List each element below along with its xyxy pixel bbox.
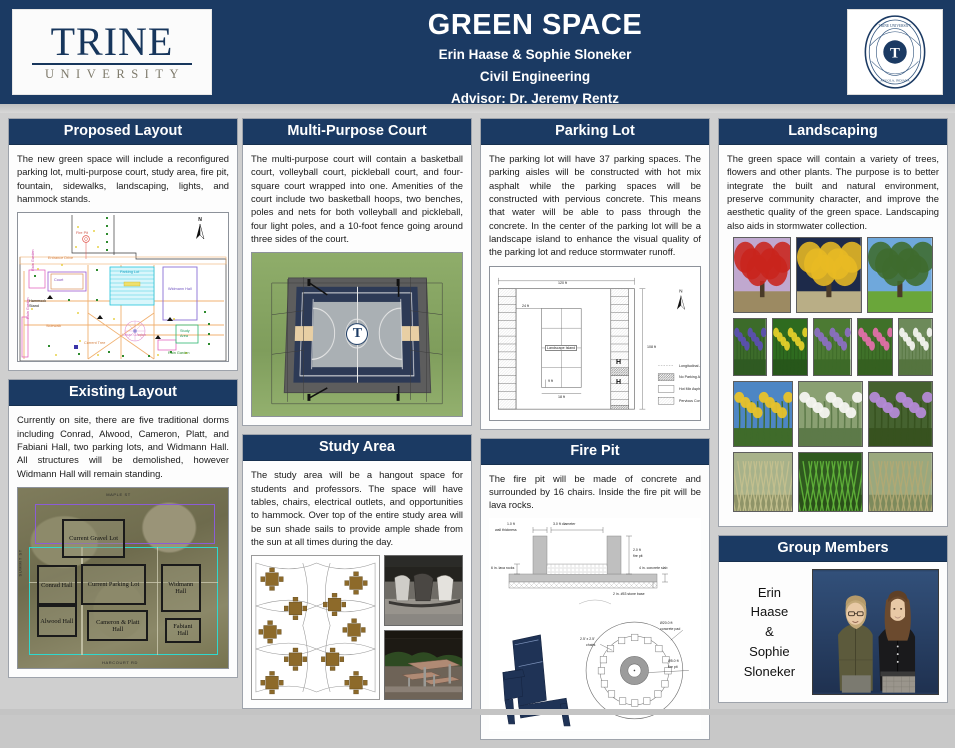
fire-pit-stone-base: 2 in. #53 stone base xyxy=(613,592,645,596)
university-seal: T TRINE UNIVERSITY ANGOLA, INDIANA xyxy=(847,9,943,95)
aerial-road-top: MAPLE ST xyxy=(106,492,131,497)
fire-pit-pad-line1: Ø20.0 ft xyxy=(660,621,672,625)
green-oak-tree xyxy=(867,237,933,313)
group-members-photo xyxy=(812,569,939,695)
panel-title-multi-purpose-court: Multi-Purpose Court xyxy=(243,119,471,145)
fire-pit-chairs-line1: 2.5' x 2.5' xyxy=(580,637,595,641)
plant-photo-row xyxy=(733,318,933,376)
author-names: Erin Haase & Sophie Sloneker xyxy=(220,45,850,64)
study-area-photos xyxy=(384,555,463,700)
fire-pit-depth-line1: 2.0 ft xyxy=(633,548,641,552)
panel-proposed-layout: Proposed Layout The new green space will… xyxy=(8,118,238,371)
seal-icon: T TRINE UNIVERSITY ANGOLA, INDIANA xyxy=(856,13,934,91)
site-label-current-tree: Current Tree xyxy=(84,341,106,345)
panel-existing-layout: Existing Layout Currently on site, there… xyxy=(8,379,238,678)
svg-text:N: N xyxy=(198,217,202,223)
site-label-entrance-drive: Entrance Drive xyxy=(48,256,73,260)
legend-hot-mix-asphalt: Hot Mix Asphalt xyxy=(679,387,701,391)
green-ornamental-grass xyxy=(798,452,863,512)
fire-pit-chairs-line2: chairs xyxy=(586,643,595,647)
member-name-line: Sloneker xyxy=(727,662,812,682)
parking-island-label: Landscape Island xyxy=(545,345,577,351)
prairie-grass-field xyxy=(733,452,793,512)
handicap-mark-1: H xyxy=(616,359,621,366)
fire-pit-section xyxy=(489,518,701,613)
member-name-line: Haase xyxy=(727,602,812,622)
site-label-widmann-hall: Widmann Hall xyxy=(168,287,192,292)
parking-lot-text: The parking lot will have 37 parking spa… xyxy=(489,152,701,259)
aerial-label-current-parking-lot: Current Parking Lot xyxy=(81,564,146,605)
fire-pit-diameter: 3.0 ft diameter xyxy=(553,522,575,526)
aerial-label-conrad-hall: Conrad Hall xyxy=(37,565,77,605)
group-member-names: Erin Haase & Sophie Sloneker xyxy=(727,583,812,682)
logo-divider xyxy=(32,63,192,65)
fire-pit-pad-line2: concrete pad xyxy=(660,627,680,631)
plant-photo-grid xyxy=(727,232,939,518)
parking-dim-height: 108 ft xyxy=(647,345,656,349)
aerial-label-current-gravel-lot: Current Gravel Lot xyxy=(62,519,125,559)
aerial-road-bottom: HARCOURT RD xyxy=(102,660,138,665)
column-2: Multi-Purpose Court The multi-purpose co… xyxy=(242,118,472,717)
panel-title-parking-lot: Parking Lot xyxy=(481,119,709,145)
panel-title-existing-layout: Existing Layout xyxy=(9,380,237,406)
member-name-ampersand: & xyxy=(727,622,812,642)
fire-pit-wall-thickness-line2: wall thickness xyxy=(495,528,517,532)
poster-canvas: TRINE UNIVERSITY GREEN SPACE Erin Haase … xyxy=(0,0,955,715)
legend-longitudinal-joint: Longitudinal Joint xyxy=(679,364,701,368)
site-label-study-area: Study Area xyxy=(180,329,196,338)
panel-parking-lot: Parking Lot The parking lot will have 37… xyxy=(480,118,710,430)
logo-subtext: UNIVERSITY xyxy=(39,67,185,82)
court-render-figure: T xyxy=(251,252,463,417)
fire-pit-section-drawing: 1.0 ft wall thickness 3.0 ft diameter 2.… xyxy=(489,518,701,613)
parking-dim-space-depth: 9 ft xyxy=(548,379,553,383)
fire-pit-depth-line2: fire pit xyxy=(633,554,643,558)
panel-group-members: Group Members Erin Haase & Sophie Slonek… xyxy=(718,535,948,703)
logo-wordmark: TRINE xyxy=(51,23,174,61)
site-label-fire-pit: Fire Pit xyxy=(76,231,88,235)
aerial-road-left: SUMMIT ST xyxy=(18,550,23,577)
picnic-table-photo xyxy=(384,630,463,701)
page-title: GREEN SPACE xyxy=(220,9,850,42)
aerial-label-cameron-platt-hall: Cameron & Platt Hall xyxy=(87,610,148,641)
shade-sail-layout xyxy=(252,556,379,699)
panel-landscaping: Landscaping The green space will contain… xyxy=(718,118,948,527)
fire-pit-pit-line2: fire pit xyxy=(668,665,678,669)
title-block: GREEN SPACE Erin Haase & Sophie Sloneker… xyxy=(220,4,850,108)
fire-pit-concrete-slab: 4 in. concrete slab xyxy=(639,566,667,570)
red-maple-tree xyxy=(733,237,791,313)
parking-lot-drawing-figure: N 120 ft 108 ft xyxy=(489,266,701,421)
column-3: Parking Lot The parking lot will have 37… xyxy=(480,118,710,748)
footer-strip xyxy=(0,709,955,715)
aerial-label-fabiani-hall: Fabiani Hall xyxy=(165,618,201,643)
svg-text:TRINE UNIVERSITY: TRINE UNIVERSITY xyxy=(879,24,912,28)
handicap-mark-2: H xyxy=(616,379,621,386)
yellow-coneflower-plant xyxy=(733,381,793,447)
plant-photo-row xyxy=(733,381,933,447)
plant-photo-row xyxy=(733,237,933,313)
landscaping-text: The green space will contain a variety o… xyxy=(727,152,939,232)
column-1: Proposed Layout The new green space will… xyxy=(8,118,238,686)
panel-study-area: Study Area The study area will be a hang… xyxy=(242,434,472,709)
panel-title-study-area: Study Area xyxy=(243,435,471,461)
site-label-urban-garden: Urban Garden xyxy=(122,333,146,337)
parking-lot-plan: N xyxy=(490,267,700,420)
panel-fire-pit: Fire Pit The fire pit will be made of co… xyxy=(480,438,710,740)
site-plan-drawing: N xyxy=(18,213,229,362)
parking-dim-aisle: 24 ft xyxy=(522,304,529,308)
multi-purpose-court-text: The multi-purpose court will contain a b… xyxy=(251,152,463,245)
yellow-goldenrod-flower xyxy=(772,318,809,376)
blue-larkspur-flower xyxy=(733,318,767,376)
member-name-line: Erin xyxy=(727,583,812,603)
yellow-aspen-trees xyxy=(796,237,862,313)
site-label-court: Court xyxy=(54,278,63,282)
aerial-label-widmann-hall: Widmann Hall xyxy=(161,564,201,613)
parking-dim-space-width: 18 ft xyxy=(558,395,565,399)
member-name-line: Sophie xyxy=(727,642,812,662)
department-name: Civil Engineering xyxy=(220,67,850,86)
legend-no-parking-area: No Parking Area xyxy=(679,375,701,379)
aerial-label-alwood-hall: Alwood Hall xyxy=(37,605,77,637)
panel-multi-purpose-court: Multi-Purpose Court The multi-purpose co… xyxy=(242,118,472,426)
white-yarrow-flower xyxy=(898,318,933,376)
fire-pit-text: The fire pit will be made of concrete an… xyxy=(489,472,701,512)
site-label-rain-garden-bottom: Rain Garden xyxy=(168,351,190,355)
plant-photo-row xyxy=(733,452,933,512)
site-label-rain-garden-top: Rain Garden xyxy=(31,250,35,272)
fire-pit-wall-thickness-line1: 1.0 ft xyxy=(507,522,515,526)
study-area-plan-drawing xyxy=(251,555,380,700)
proposed-layout-text: The new green space will include a recon… xyxy=(17,152,229,205)
panel-title-landscaping: Landscaping xyxy=(719,119,947,145)
column-4: Landscaping The green space will contain… xyxy=(718,118,948,711)
trine-university-logo: TRINE UNIVERSITY xyxy=(12,9,212,95)
court-fence-and-poles xyxy=(252,253,462,416)
panel-title-proposed-layout: Proposed Layout xyxy=(9,119,237,145)
team-portrait xyxy=(813,570,938,694)
existing-layout-text: Currently on site, there are five tradit… xyxy=(17,413,229,480)
svg-text:T: T xyxy=(890,45,900,61)
pink-milkweed-flower xyxy=(857,318,894,376)
fire-pit-lava-rocks: 6 in. lava rocks xyxy=(491,566,514,570)
legend-pervious-concrete: Pervious Concrete xyxy=(679,399,701,403)
patio-chairs-photo xyxy=(384,555,463,626)
site-path xyxy=(157,547,159,655)
study-area-text: The study area will be a hangout space f… xyxy=(251,468,463,548)
poster-header: TRINE UNIVERSITY GREEN SPACE Erin Haase … xyxy=(0,0,955,104)
switchgrass-field xyxy=(868,452,933,512)
fire-pit-pit-line1: Ø5.0 ft xyxy=(668,659,679,663)
panel-title-fire-pit: Fire Pit xyxy=(481,439,709,465)
svg-text:N: N xyxy=(679,288,682,293)
site-label-parking-lot: Parking Lot xyxy=(120,270,140,274)
site-label-rain-garden-left: Rain Garden xyxy=(26,298,30,320)
parking-dim-width: 120 ft xyxy=(558,281,567,285)
site-label-hammock-stand: Hammock Stand xyxy=(29,299,53,308)
header-shadow-strip xyxy=(0,104,955,113)
purple-aster-flower xyxy=(868,381,933,447)
white-obedient-plant xyxy=(798,381,863,447)
site-label-sidewalk: Sidewalk xyxy=(46,324,61,328)
panel-title-group-members: Group Members xyxy=(719,536,947,562)
purple-iris-flower xyxy=(813,318,851,376)
proposed-site-plan-figure: N Fire Pit Entrance Drive Rain Garden Co… xyxy=(17,212,229,362)
study-area-figures xyxy=(251,555,463,700)
existing-site-aerial-photo: Current Gravel Lot Conrad Hall Alwood Ha… xyxy=(17,487,229,669)
